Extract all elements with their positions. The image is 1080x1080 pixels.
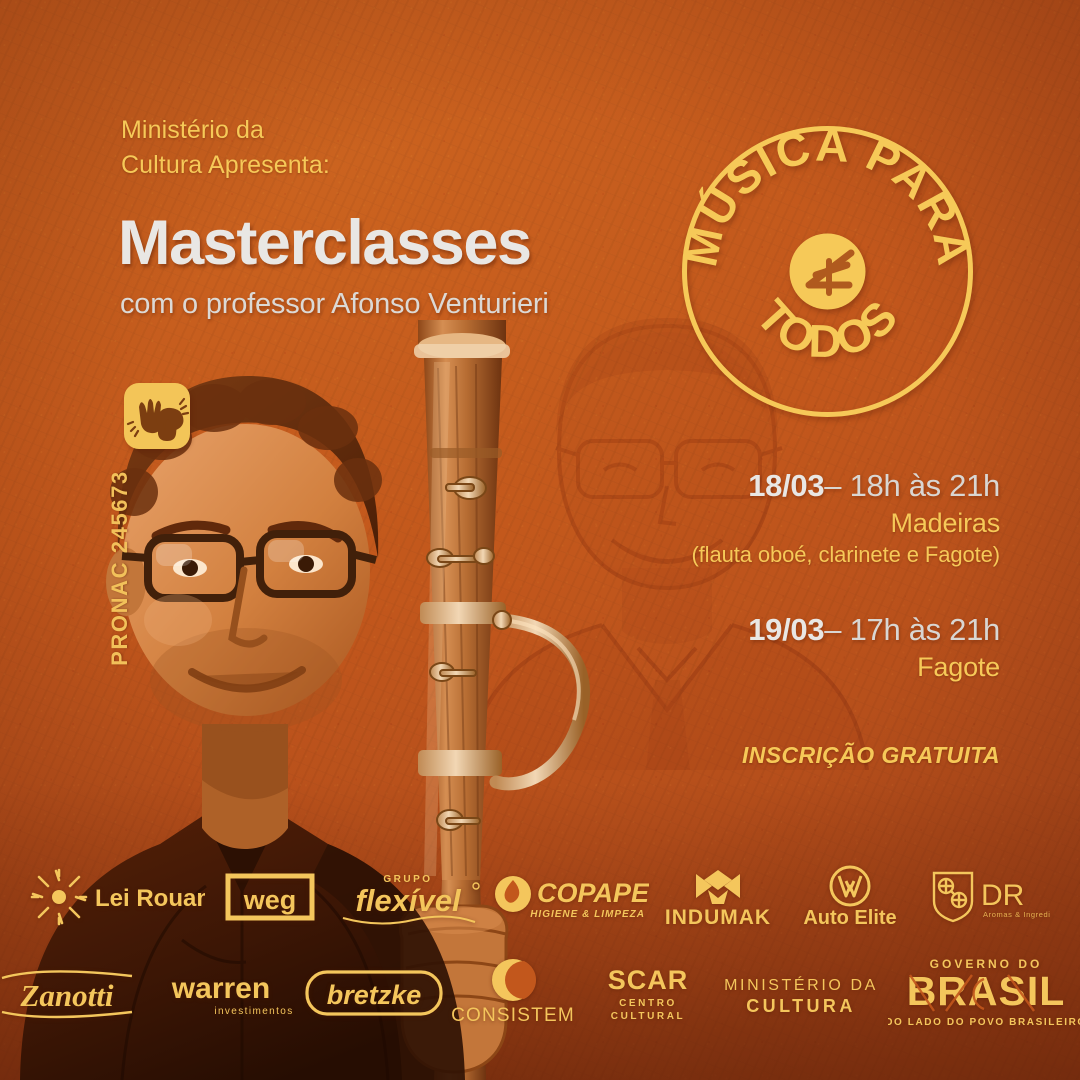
logo-governo-brasil: GOVERNO DO BRASIL DO LADO DO POVO BRASIL…: [888, 955, 1080, 1031]
logo-subtext: HIGIENE & LIMPEZA: [530, 909, 645, 920]
schedule-time: 18h às 21h: [850, 468, 1000, 503]
music-note-emblem: [790, 234, 866, 310]
logo-subtext: CULTURA: [746, 996, 855, 1016]
sponsor-row-1: Lei Rouanet weg GRUPO flexível: [0, 856, 1080, 938]
schedule-separator: –: [824, 612, 841, 647]
logo-subtext-2: CULTURAL: [611, 1011, 686, 1022]
free-registration-note: INSCRIÇÃO GRATUITA: [620, 742, 1000, 769]
logo-text: warren: [171, 972, 270, 1005]
schedule-block: 18/03– 18h às 21h Madeiras (flauta oboé,…: [620, 468, 1000, 687]
logo-bretzke: bretzke: [304, 967, 444, 1019]
logo-lei-rouanet: Lei Rouanet: [27, 868, 207, 926]
kicker-text: Ministério da Cultura Apresenta:: [121, 113, 330, 183]
dr-shield-icon: [934, 873, 972, 921]
logo-text: SCAR: [608, 965, 689, 995]
poster-canvas: Ministério da Cultura Apresenta: Masterc…: [0, 0, 1080, 1080]
logo-dr: DR Aromas & Ingredientes: [923, 867, 1053, 927]
sponsor-logos: Lei Rouanet weg GRUPO flexível: [0, 856, 1080, 1036]
vw-circle-icon: [831, 867, 869, 905]
logo-subtext: investimentos: [214, 1006, 293, 1017]
logo-text: DR: [981, 879, 1024, 912]
logo-text: bretzke: [327, 980, 422, 1010]
schedule-datetime: 19/03– 17h às 21h: [620, 612, 1000, 648]
logo-subtext: DO LADO DO POVO BRASILEIRO: [888, 1017, 1080, 1028]
indumak-mark: [696, 870, 740, 904]
logo-grupo-flexivel: GRUPO flexível: [333, 866, 483, 928]
logo-copapel: COPAPEL HIGIENE & LIMPEZA: [491, 868, 651, 926]
logo-text: COPAPEL: [537, 878, 649, 908]
logo-scar: SCAR CENTRO CULTURAL: [582, 961, 714, 1025]
schedule-datetime: 18/03– 18h às 21h: [620, 468, 1000, 504]
sponsor-row-2: Zanotti warren investimentos bretzke: [0, 950, 1080, 1036]
logo-text: flexível: [355, 883, 462, 918]
schedule-date: 18/03: [748, 468, 824, 503]
sunburst-icon: [32, 870, 86, 924]
logo-ministerio-cultura: MINISTÉRIO DA CULTURA: [720, 964, 882, 1022]
schedule-date: 19/03: [748, 612, 824, 647]
logo-indumak: INDUMAK: [659, 866, 777, 928]
logo-text: Zanotti: [19, 978, 113, 1013]
logo-weg: weg: [215, 868, 325, 926]
logo-text: INDUMAK: [665, 906, 771, 928]
pronac-code: PRONAC 245673: [107, 443, 133, 693]
musica-para-todos-badge: MÚSICA PARA TODOS: [679, 123, 976, 420]
copapel-droplet: [495, 876, 531, 912]
page-title: Masterclasses: [118, 207, 531, 279]
schedule-detail: (flauta oboé, clarinete e Fagote): [620, 542, 1000, 568]
schedule-separator: –: [824, 468, 841, 503]
logo-text: MINISTÉRIO DA: [724, 975, 878, 994]
logo-zanotti: Zanotti: [0, 964, 138, 1022]
logo-warren: warren investimentos: [144, 964, 298, 1022]
logo-auto-elite: Auto Elite: [785, 864, 915, 930]
schedule-item: 19/03– 17h às 21h Fagote: [620, 612, 1000, 683]
logo-text: Lei Rouanet: [95, 885, 205, 912]
schedule-time: 17h às 21h: [850, 612, 1000, 647]
logo-text: CONSISTEM: [451, 1005, 575, 1026]
schedule-group: Madeiras: [620, 508, 1000, 539]
logo-text: Auto Elite: [803, 907, 896, 929]
libras-sign-language-icon: [124, 383, 190, 449]
logo-subtext: CENTRO: [619, 998, 677, 1009]
schedule-item: 18/03– 18h às 21h Madeiras (flauta oboé,…: [620, 468, 1000, 568]
logo-consistem: CONSISTEM: [450, 957, 576, 1029]
logo-subtext: Aromas & Ingredientes: [983, 910, 1050, 919]
page-subtitle: com o professor Afonso Venturieri: [120, 288, 549, 321]
logo-text: weg: [243, 885, 297, 915]
schedule-group: Fagote: [620, 652, 1000, 683]
consistem-circle: [492, 959, 536, 1001]
